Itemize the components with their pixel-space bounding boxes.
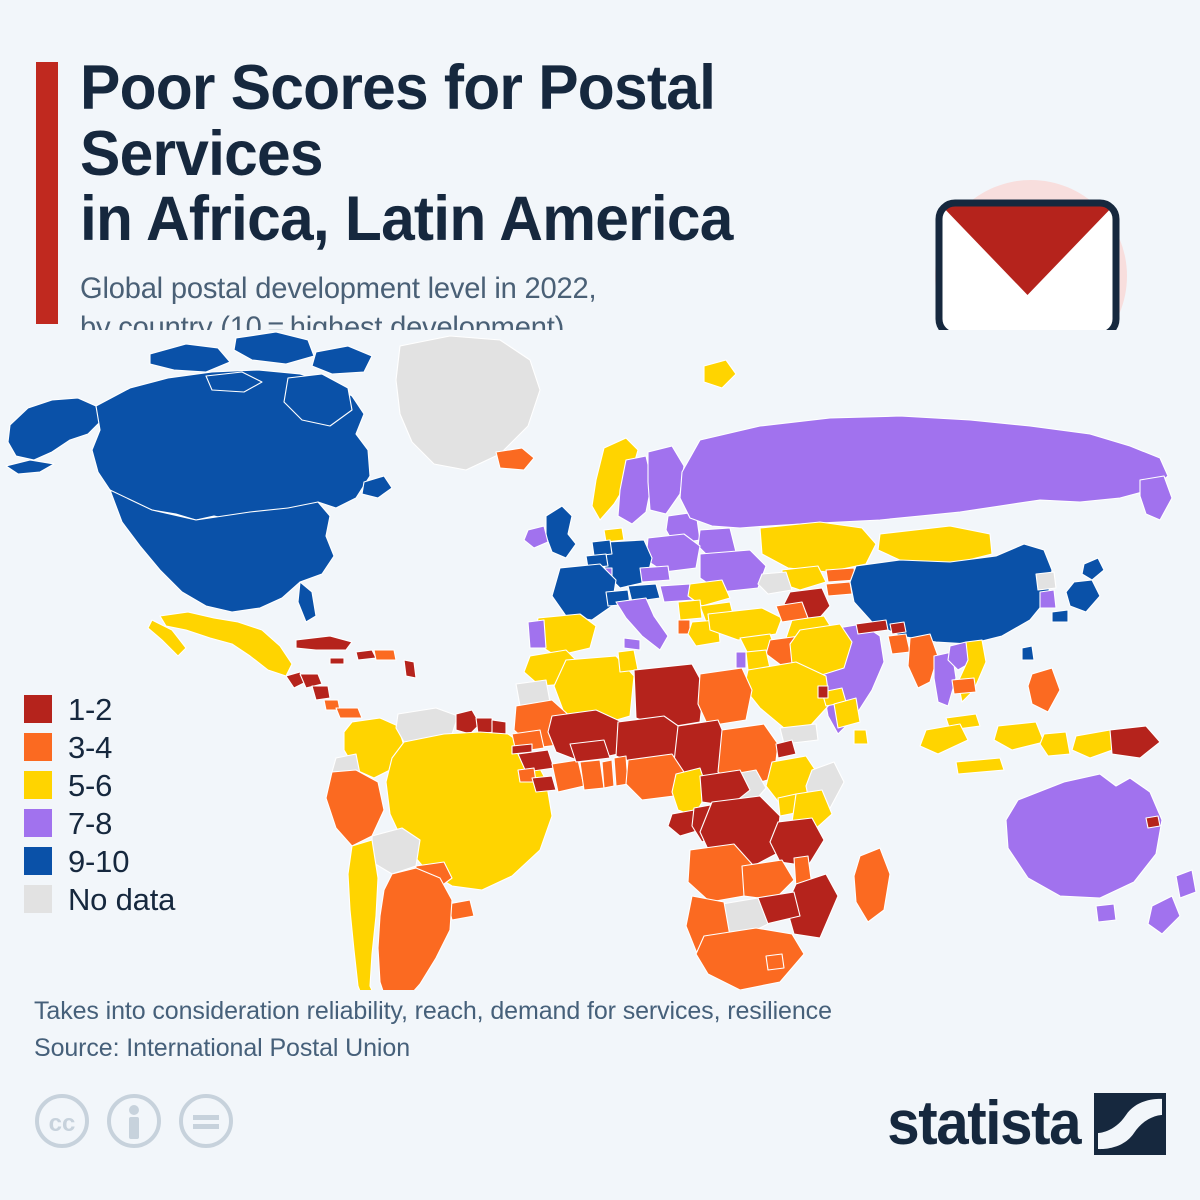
- country-jamaica: [330, 658, 344, 664]
- svg-text:cc: cc: [49, 1110, 76, 1137]
- country-sicily-sardinia: [624, 638, 640, 650]
- country-tajikistan: [826, 582, 852, 596]
- legend-item: 5-6: [24, 766, 175, 804]
- country-egypt: [698, 668, 752, 726]
- country-czechia: [640, 566, 670, 582]
- footnotes: Takes into consideration reliability, re…: [34, 993, 1154, 1067]
- legend-item: 3-4: [24, 728, 175, 766]
- country-georgia-armenia-azerbaijan: [776, 602, 808, 622]
- legend-swatch-no-data: [24, 885, 52, 913]
- attribution-icon: [106, 1093, 162, 1149]
- statista-wordmark: statista: [887, 1093, 1080, 1155]
- country-israel: [736, 652, 746, 668]
- country-bangladesh: [888, 634, 910, 654]
- country-qatar: [818, 686, 828, 698]
- legend-swatch-5-6: [24, 771, 52, 799]
- country-cote-divoire: [552, 760, 584, 792]
- legend-item: 9-10: [24, 842, 175, 880]
- country-tasmania: [1096, 904, 1116, 922]
- country-liberia: [532, 776, 556, 792]
- legend-label-9-10: 9-10: [68, 846, 129, 877]
- title-line-2: in Africa, Latin America: [80, 184, 733, 254]
- legend-label-no-data: No data: [68, 884, 175, 915]
- choropleth-map: [0, 330, 1200, 990]
- country-tunisia: [618, 650, 638, 672]
- country-sri-lanka: [854, 730, 868, 744]
- country-netherlands: [592, 540, 612, 556]
- statista-mark-icon: [1094, 1093, 1166, 1155]
- no-derivatives-icon: [178, 1093, 234, 1149]
- country-north-korea: [1036, 572, 1056, 590]
- legend-swatch-3-4: [24, 733, 52, 761]
- header: Poor Scores for Postal Services in Afric…: [80, 56, 940, 348]
- accent-bar: [36, 62, 58, 324]
- island-lesser-antilles: [404, 660, 416, 678]
- footer: cc statista: [0, 1085, 1200, 1185]
- country-togo: [602, 760, 614, 788]
- country-french-guiana: [492, 720, 506, 734]
- page-title: Poor Scores for Postal Services in Afric…: [80, 56, 906, 253]
- country-taiwan: [1022, 646, 1034, 660]
- legend-label-7-8: 7-8: [68, 808, 112, 839]
- country-haiti: [356, 650, 376, 660]
- legend-swatch-9-10: [24, 847, 52, 875]
- map-legend: 1-2 3-4 5-6 7-8 9-10 No data: [24, 690, 175, 918]
- country-japan-kyushu: [1052, 610, 1068, 622]
- country-ghana: [580, 760, 604, 790]
- legend-label-3-4: 3-4: [68, 732, 112, 763]
- subtitle-line-1: Global postal development level in 2022,: [80, 272, 596, 305]
- envelope-icon: [935, 199, 1120, 339]
- country-yemen: [780, 724, 818, 744]
- legend-label-5-6: 5-6: [68, 770, 112, 801]
- legend-item: 7-8: [24, 804, 175, 842]
- infographic-root: Poor Scores for Postal Services in Afric…: [0, 0, 1200, 1200]
- world-map: 1-2 3-4 5-6 7-8 9-10 No data: [0, 330, 1200, 990]
- note-source: Source: International Postal Union: [34, 1030, 1154, 1067]
- statista-logo: statista: [875, 1093, 1166, 1155]
- country-portugal: [528, 620, 546, 648]
- cc-icon: cc: [34, 1093, 90, 1149]
- legend-label-1-2: 1-2: [68, 694, 112, 725]
- note-methodology: Takes into consideration reliability, re…: [34, 993, 1154, 1030]
- country-lesotho: [766, 954, 784, 970]
- country-cambodia: [952, 678, 976, 694]
- title-line-1: Poor Scores for Postal Services: [80, 53, 715, 189]
- legend-swatch-1-2: [24, 695, 52, 723]
- country-dominican-republic: [374, 650, 396, 660]
- legend-item: No data: [24, 880, 175, 918]
- creative-commons-icons: cc: [34, 1093, 234, 1149]
- country-serbia: [678, 600, 702, 620]
- country-south-korea: [1040, 590, 1056, 608]
- country-burkina-faso: [570, 740, 610, 762]
- country-fiji: [1146, 816, 1160, 828]
- legend-item: 1-2: [24, 690, 175, 728]
- country-oman: [834, 698, 860, 728]
- country-panama: [336, 708, 362, 718]
- country-bhutan: [890, 622, 906, 634]
- legend-swatch-7-8: [24, 809, 52, 837]
